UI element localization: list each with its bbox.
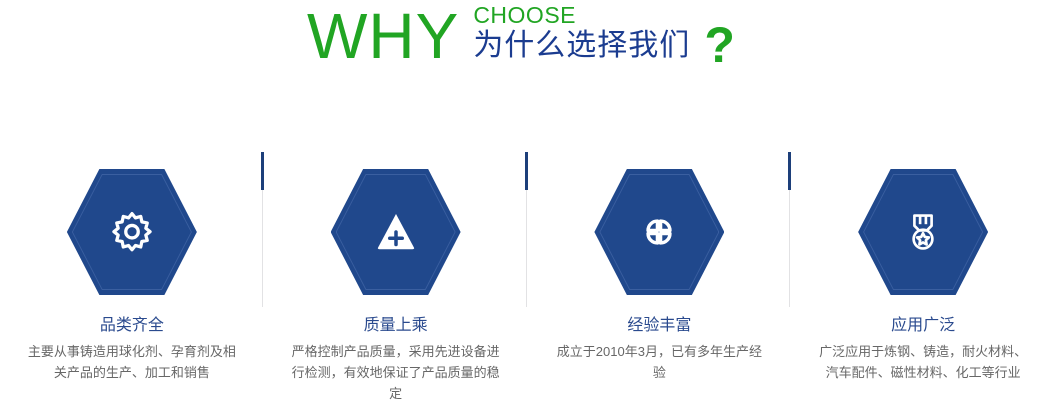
card-description: 广泛应用于炼钢、铸造，耐火材料、汽车配件、磁性材料、化工等行业	[816, 341, 1031, 383]
feature-card[interactable]: 品类齐全 主要从事铸造用球化剂、孕育剂及相关产品的生产、加工和销售	[0, 140, 264, 416]
feature-card[interactable]: 经验丰富 成立于2010年3月，已有多年生产经验	[528, 140, 792, 416]
card-title: 品类齐全	[100, 315, 164, 337]
feature-card[interactable]: 质量上乘 严格控制产品质量，采用先进设备进行检测，有效地保证了产品质量的稳定	[264, 140, 528, 416]
header-text-stack: CHOOSE 为什么选择我们	[473, 0, 690, 65]
medal-icon	[898, 207, 948, 257]
header-why-word: WHY	[307, 0, 459, 72]
section-header: WHY CHOOSE 为什么选择我们 ?	[0, 0, 1055, 96]
hexagon-badge	[331, 169, 461, 295]
triangle-plus-icon	[371, 207, 421, 257]
clover-icon	[634, 207, 684, 257]
hexagon-badge	[67, 169, 197, 295]
gear-icon	[107, 207, 157, 257]
card-title: 应用广泛	[891, 315, 955, 337]
card-description: 成立于2010年3月，已有多年生产经验	[552, 341, 767, 383]
card-title: 质量上乘	[364, 315, 428, 337]
header-chinese-title: 为什么选择我们	[473, 27, 690, 65]
header-question-mark: ?	[704, 0, 735, 74]
hexagon-badge	[858, 169, 988, 295]
feature-cards-row: 品类齐全 主要从事铸造用球化剂、孕育剂及相关产品的生产、加工和销售 质量上乘 严…	[0, 140, 1055, 416]
feature-card[interactable]: 应用广泛 广泛应用于炼钢、铸造，耐火材料、汽车配件、磁性材料、化工等行业	[791, 140, 1055, 416]
card-description: 严格控制产品质量，采用先进设备进行检测，有效地保证了产品质量的稳定	[288, 341, 503, 404]
card-description: 主要从事铸造用球化剂、孕育剂及相关产品的生产、加工和销售	[24, 341, 239, 383]
card-title: 经验丰富	[627, 315, 691, 337]
header-choose-word: CHOOSE	[473, 2, 690, 29]
header-title-group: WHY CHOOSE 为什么选择我们 ?	[307, 0, 735, 74]
hexagon-badge	[594, 169, 724, 295]
